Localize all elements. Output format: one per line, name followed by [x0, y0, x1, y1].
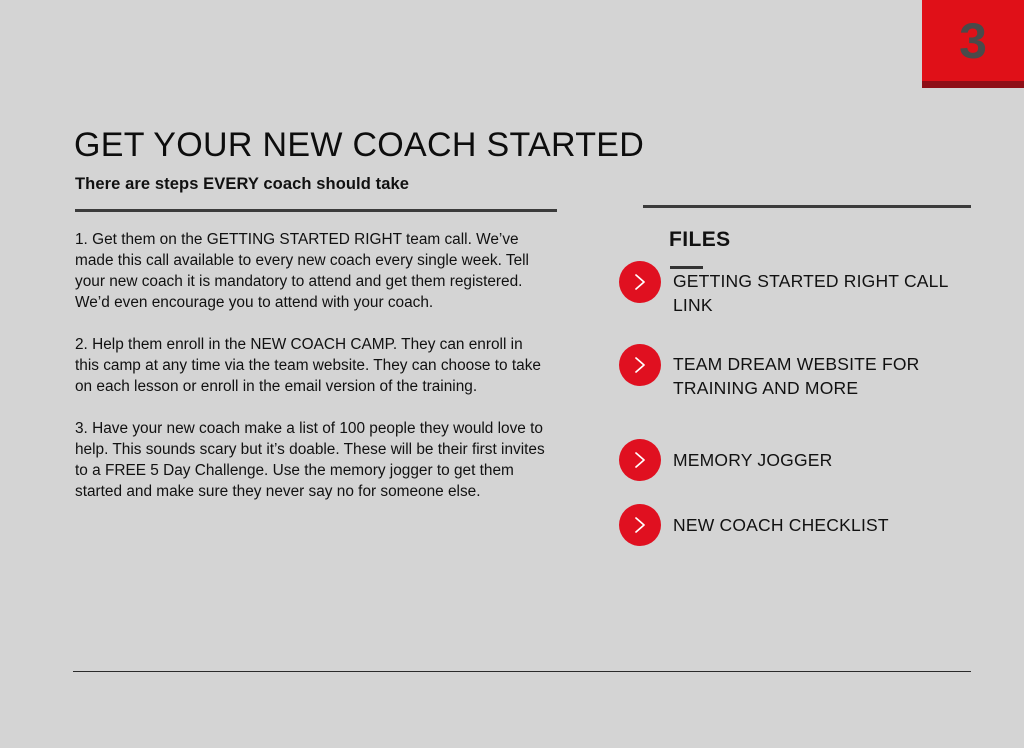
left-subtitle: There are steps EVERY coach should take: [75, 175, 557, 194]
files-heading: FILES: [669, 228, 731, 252]
list-item[interactable]: MEMORY JOGGER: [619, 439, 832, 481]
footer-divider: [73, 671, 971, 672]
file-link-label[interactable]: NEW COACH CHECKLIST: [673, 504, 889, 537]
page-number-badge: 3: [922, 0, 1024, 88]
files-divider: [643, 205, 971, 208]
page-number: 3: [922, 0, 1024, 81]
list-item[interactable]: TEAM DREAM WEBSITE FOR TRAINING AND MORE: [619, 344, 963, 400]
list-item[interactable]: GETTING STARTED RIGHT CALL LINK: [619, 261, 963, 317]
left-divider: [75, 209, 557, 212]
page-badge-underbar: [922, 81, 1024, 88]
file-link-label[interactable]: MEMORY JOGGER: [673, 439, 832, 472]
step-item: 3. Have your new coach make a list of 10…: [75, 418, 550, 502]
step-item: 2. Help them enroll in the NEW COACH CAM…: [75, 334, 550, 397]
file-link-label[interactable]: TEAM DREAM WEBSITE FOR TRAINING AND MORE: [673, 344, 963, 400]
chevron-right-circle-icon[interactable]: [619, 504, 661, 546]
step-item: 1. Get them on the GETTING STARTED RIGHT…: [75, 229, 550, 313]
chevron-right-circle-icon[interactable]: [619, 344, 661, 386]
list-item[interactable]: NEW COACH CHECKLIST: [619, 504, 889, 546]
left-column: There are steps EVERY coach should take …: [75, 175, 557, 502]
chevron-right-circle-icon[interactable]: [619, 439, 661, 481]
chevron-right-circle-icon[interactable]: [619, 261, 661, 303]
files-column: FILES GETTING STARTED RIGHT CALL LINK TE…: [643, 205, 973, 208]
step-list: 1. Get them on the GETTING STARTED RIGHT…: [75, 229, 557, 502]
file-link-label[interactable]: GETTING STARTED RIGHT CALL LINK: [673, 261, 963, 317]
page-title: GET YOUR NEW COACH STARTED: [74, 126, 644, 165]
